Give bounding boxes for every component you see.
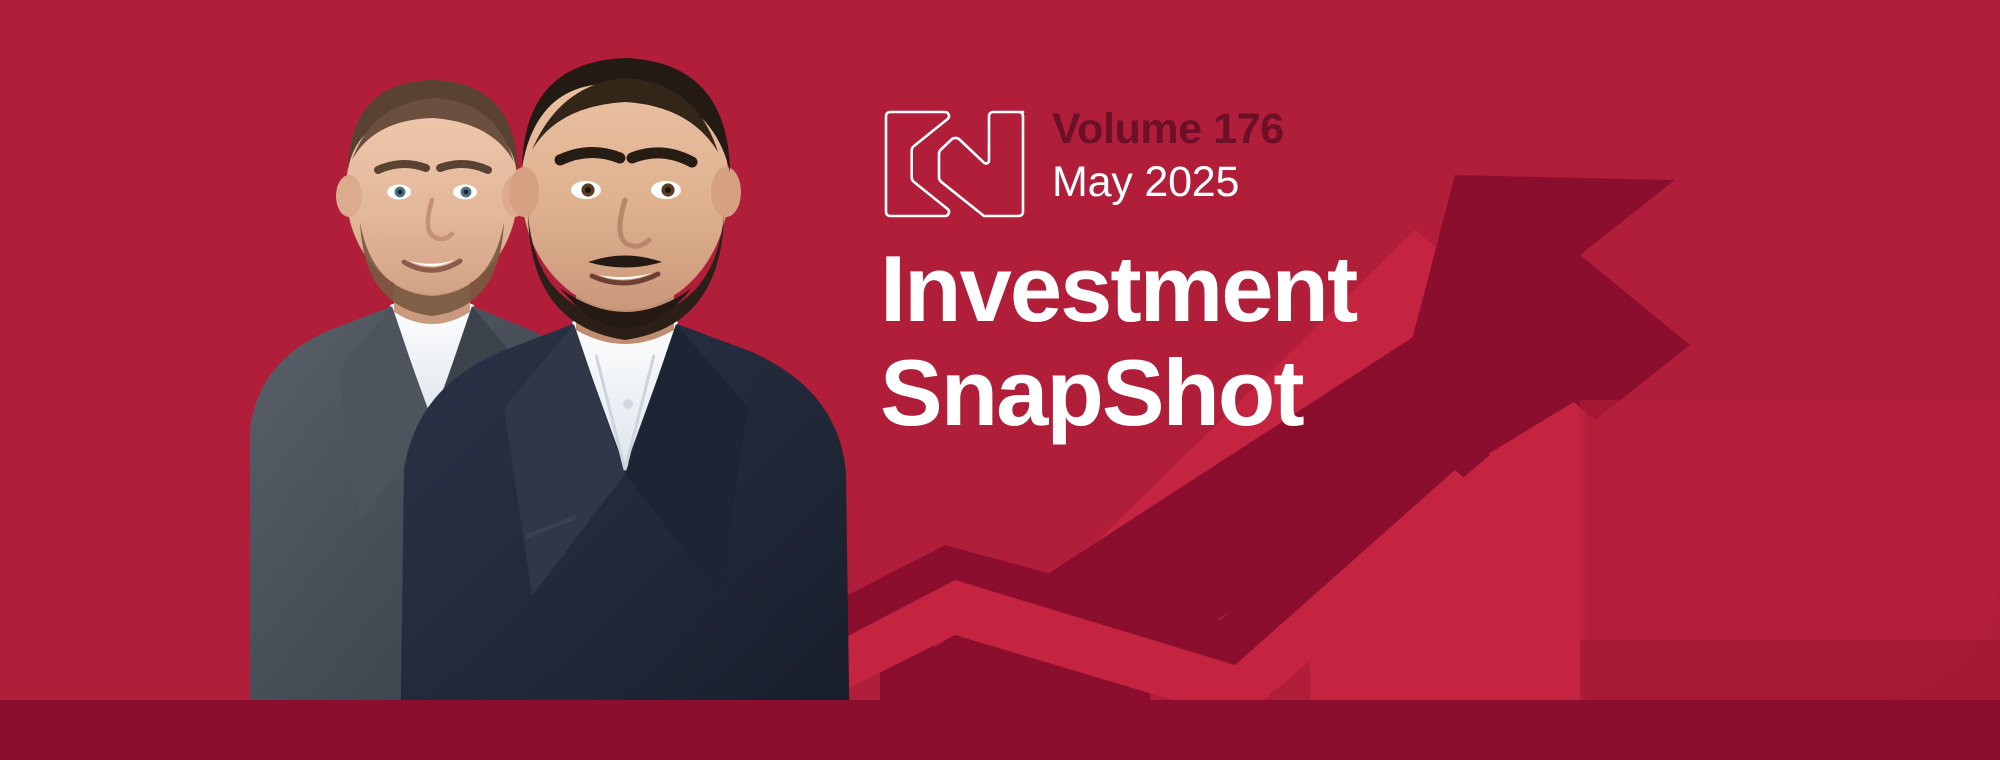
page-title-line-2: SnapShot <box>880 346 1620 440</box>
kn-monogram-logo-icon <box>880 100 1030 228</box>
page-title: Investment SnapShot <box>880 242 1620 440</box>
logo-and-meta-row: Volume 176 May 2025 <box>880 100 1620 228</box>
issue-meta: Volume 176 May 2025 <box>1052 100 1284 204</box>
bottom-accent-band <box>0 700 2000 760</box>
volume-label: Volume 176 <box>1052 108 1284 151</box>
text-block: Volume 176 May 2025 Investment SnapShot <box>880 100 1620 440</box>
issue-date-label: May 2025 <box>1052 161 1284 204</box>
banner-text-layer: Volume 176 May 2025 Investment SnapShot <box>0 0 2000 760</box>
page-title-line-1: Investment <box>880 242 1620 336</box>
investment-snapshot-banner: Volume 176 May 2025 Investment SnapShot <box>0 0 2000 760</box>
